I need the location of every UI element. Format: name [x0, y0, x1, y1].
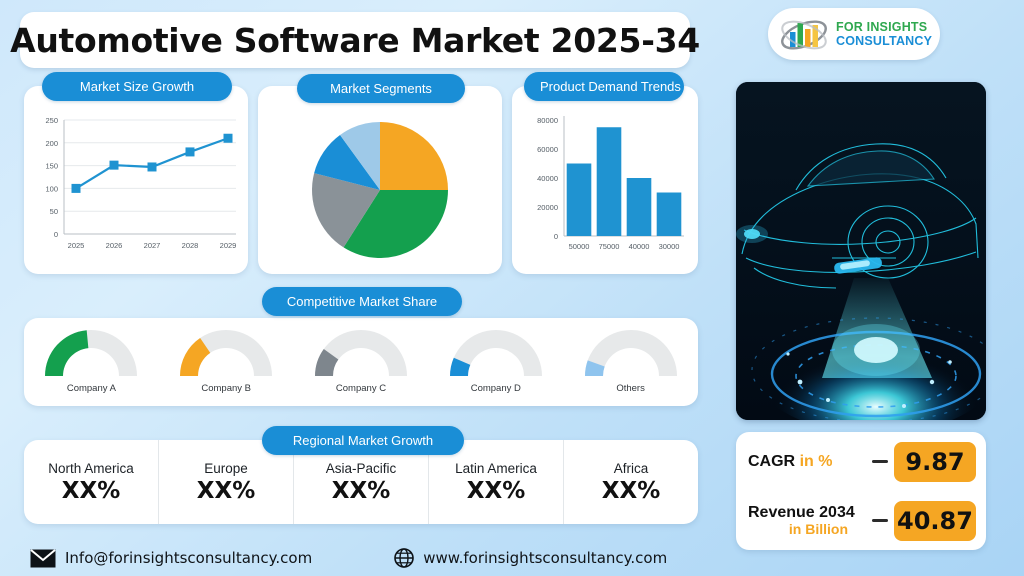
region-cell-africa: AfricaXX% [564, 440, 698, 524]
gauge-label: Company B [201, 383, 251, 394]
logo-text: FOR INSIGHTS CONSULTANCY [836, 20, 932, 48]
kpi-cagr-accent: in % [800, 453, 833, 470]
svg-text:40000: 40000 [537, 174, 558, 183]
holographic-car-illustration [736, 82, 986, 420]
gauge-others: Others [563, 318, 698, 406]
kpi-dash-icon-2 [872, 519, 888, 522]
kpi-revenue-value: 40.87 [894, 501, 976, 541]
globe-icon [394, 548, 414, 568]
svg-text:2026: 2026 [106, 241, 123, 250]
gauge-arc [170, 322, 282, 382]
region-name: Africa [614, 461, 649, 476]
kpi-cagr-title: CAGR [748, 453, 795, 470]
kpi-cagr-value: 9.87 [894, 442, 976, 482]
gauge-arc [35, 322, 147, 382]
market-size-growth-panel: 050100150200250 20252026202720282029 [24, 86, 248, 274]
infographic-stage: Automotive Software Market 2025-34 FOR I… [0, 0, 1024, 576]
gauge-company-c: Company C [294, 318, 429, 406]
gauge-arc [305, 322, 417, 382]
gauge-arc [440, 322, 552, 382]
bar-chart: 020000400006000080000 500007500040000300… [512, 86, 698, 274]
svg-text:250: 250 [45, 116, 58, 125]
svg-text:80000: 80000 [537, 116, 558, 125]
line-chart: 050100150200250 20252026202720282029 [24, 86, 248, 274]
gauge-company-d: Company D [428, 318, 563, 406]
kpi-revenue-row: Revenue 2034 in Billion 40.87 [736, 491, 986, 550]
svg-text:0: 0 [54, 230, 58, 239]
svg-text:40000: 40000 [629, 242, 650, 251]
svg-text:75000: 75000 [599, 242, 620, 251]
gauge-company-b: Company B [159, 318, 294, 406]
region-value: XX% [62, 478, 121, 504]
kpi-revenue-title: Revenue 2034 [748, 504, 855, 521]
kpi-cagr-row: CAGR in % 9.87 [736, 432, 986, 491]
pie-chart [258, 86, 502, 274]
svg-text:20000: 20000 [537, 203, 558, 212]
market-segments-panel [258, 86, 502, 274]
pill-competitive-market-share[interactable]: Competitive Market Share [262, 287, 462, 316]
svg-text:2027: 2027 [144, 241, 161, 250]
region-name: North America [48, 461, 134, 476]
region-name: Asia-Pacific [326, 461, 397, 476]
svg-text:100: 100 [45, 184, 58, 193]
company-logo[interactable]: FOR INSIGHTS CONSULTANCY [768, 8, 940, 60]
competitive-market-share-panel: Company ACompany BCompany CCompany DOthe… [24, 318, 698, 406]
svg-text:2028: 2028 [182, 241, 199, 250]
gauge-company-a: Company A [24, 318, 159, 406]
kpi-stats-card: CAGR in % 9.87 Revenue 2034 in Billion 4… [736, 432, 986, 550]
gauge-row: Company ACompany BCompany CCompany DOthe… [24, 318, 698, 406]
pill-market-size-growth[interactable]: Market Size Growth [42, 72, 232, 101]
footer-email[interactable]: Info@forinsightsconsultancy.com [30, 549, 312, 568]
pill-regional-market-growth[interactable]: Regional Market Growth [262, 426, 464, 455]
gauge-label: Company C [336, 383, 386, 394]
kpi-dash-icon [872, 460, 888, 463]
bar-chart-orbit-icon [778, 14, 830, 54]
gauge-label: Company D [471, 383, 521, 394]
svg-text:2025: 2025 [68, 241, 85, 250]
gauge-arc [575, 322, 687, 382]
product-demand-trends-panel: 020000400006000080000 500007500040000300… [512, 86, 698, 274]
logo-line-2: CONSULTANCY [836, 34, 932, 48]
svg-text:50: 50 [50, 207, 58, 216]
footer-website[interactable]: www.forinsightsconsultancy.com [394, 548, 667, 568]
gauge-label: Company A [67, 383, 116, 394]
gauge-label: Others [616, 383, 645, 394]
page-title: Automotive Software Market 2025-34 [10, 21, 700, 60]
page-title-card: Automotive Software Market 2025-34 [20, 12, 690, 68]
svg-text:50000: 50000 [569, 242, 590, 251]
svg-text:2029: 2029 [220, 241, 237, 250]
region-value: XX% [332, 478, 391, 504]
svg-text:150: 150 [45, 162, 58, 171]
hero-image-holographic-car [736, 82, 986, 420]
region-name: Latin America [455, 461, 537, 476]
logo-line-1: FOR INSIGHTS [836, 20, 932, 34]
svg-text:60000: 60000 [537, 145, 558, 154]
envelope-icon [30, 549, 56, 568]
region-value: XX% [602, 478, 661, 504]
svg-text:0: 0 [554, 232, 558, 241]
pill-market-segments[interactable]: Market Segments [297, 74, 465, 103]
footer-email-text: Info@forinsightsconsultancy.com [65, 549, 312, 567]
footer: Info@forinsightsconsultancy.com www.fori… [0, 540, 730, 576]
kpi-revenue-sub: in Billion [748, 522, 866, 537]
footer-website-text: www.forinsightsconsultancy.com [423, 549, 667, 567]
kpi-revenue-label: Revenue 2034 in Billion [748, 504, 866, 537]
region-name: Europe [204, 461, 248, 476]
region-value: XX% [197, 478, 256, 504]
svg-text:30000: 30000 [659, 242, 680, 251]
kpi-cagr-label: CAGR in % [748, 453, 866, 471]
region-cell-north-america: North AmericaXX% [24, 440, 159, 524]
region-value: XX% [467, 478, 526, 504]
svg-text:200: 200 [45, 139, 58, 148]
pill-product-demand-trends[interactable]: Product Demand Trends [524, 72, 684, 101]
